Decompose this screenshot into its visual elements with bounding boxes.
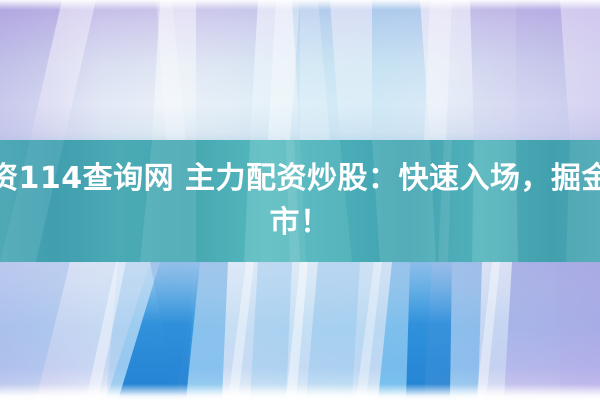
headline-line-2: 市！ xyxy=(270,201,331,245)
banner-image: 配资114查询网 主力配资炒股：快速入场，掘金股 市！ xyxy=(0,0,600,400)
headline-line-1: 配资114查询网 主力配资炒股：快速入场，掘金股 xyxy=(0,157,600,201)
headline: 配资114查询网 主力配资炒股：快速入场，掘金股 市！ xyxy=(0,140,600,262)
